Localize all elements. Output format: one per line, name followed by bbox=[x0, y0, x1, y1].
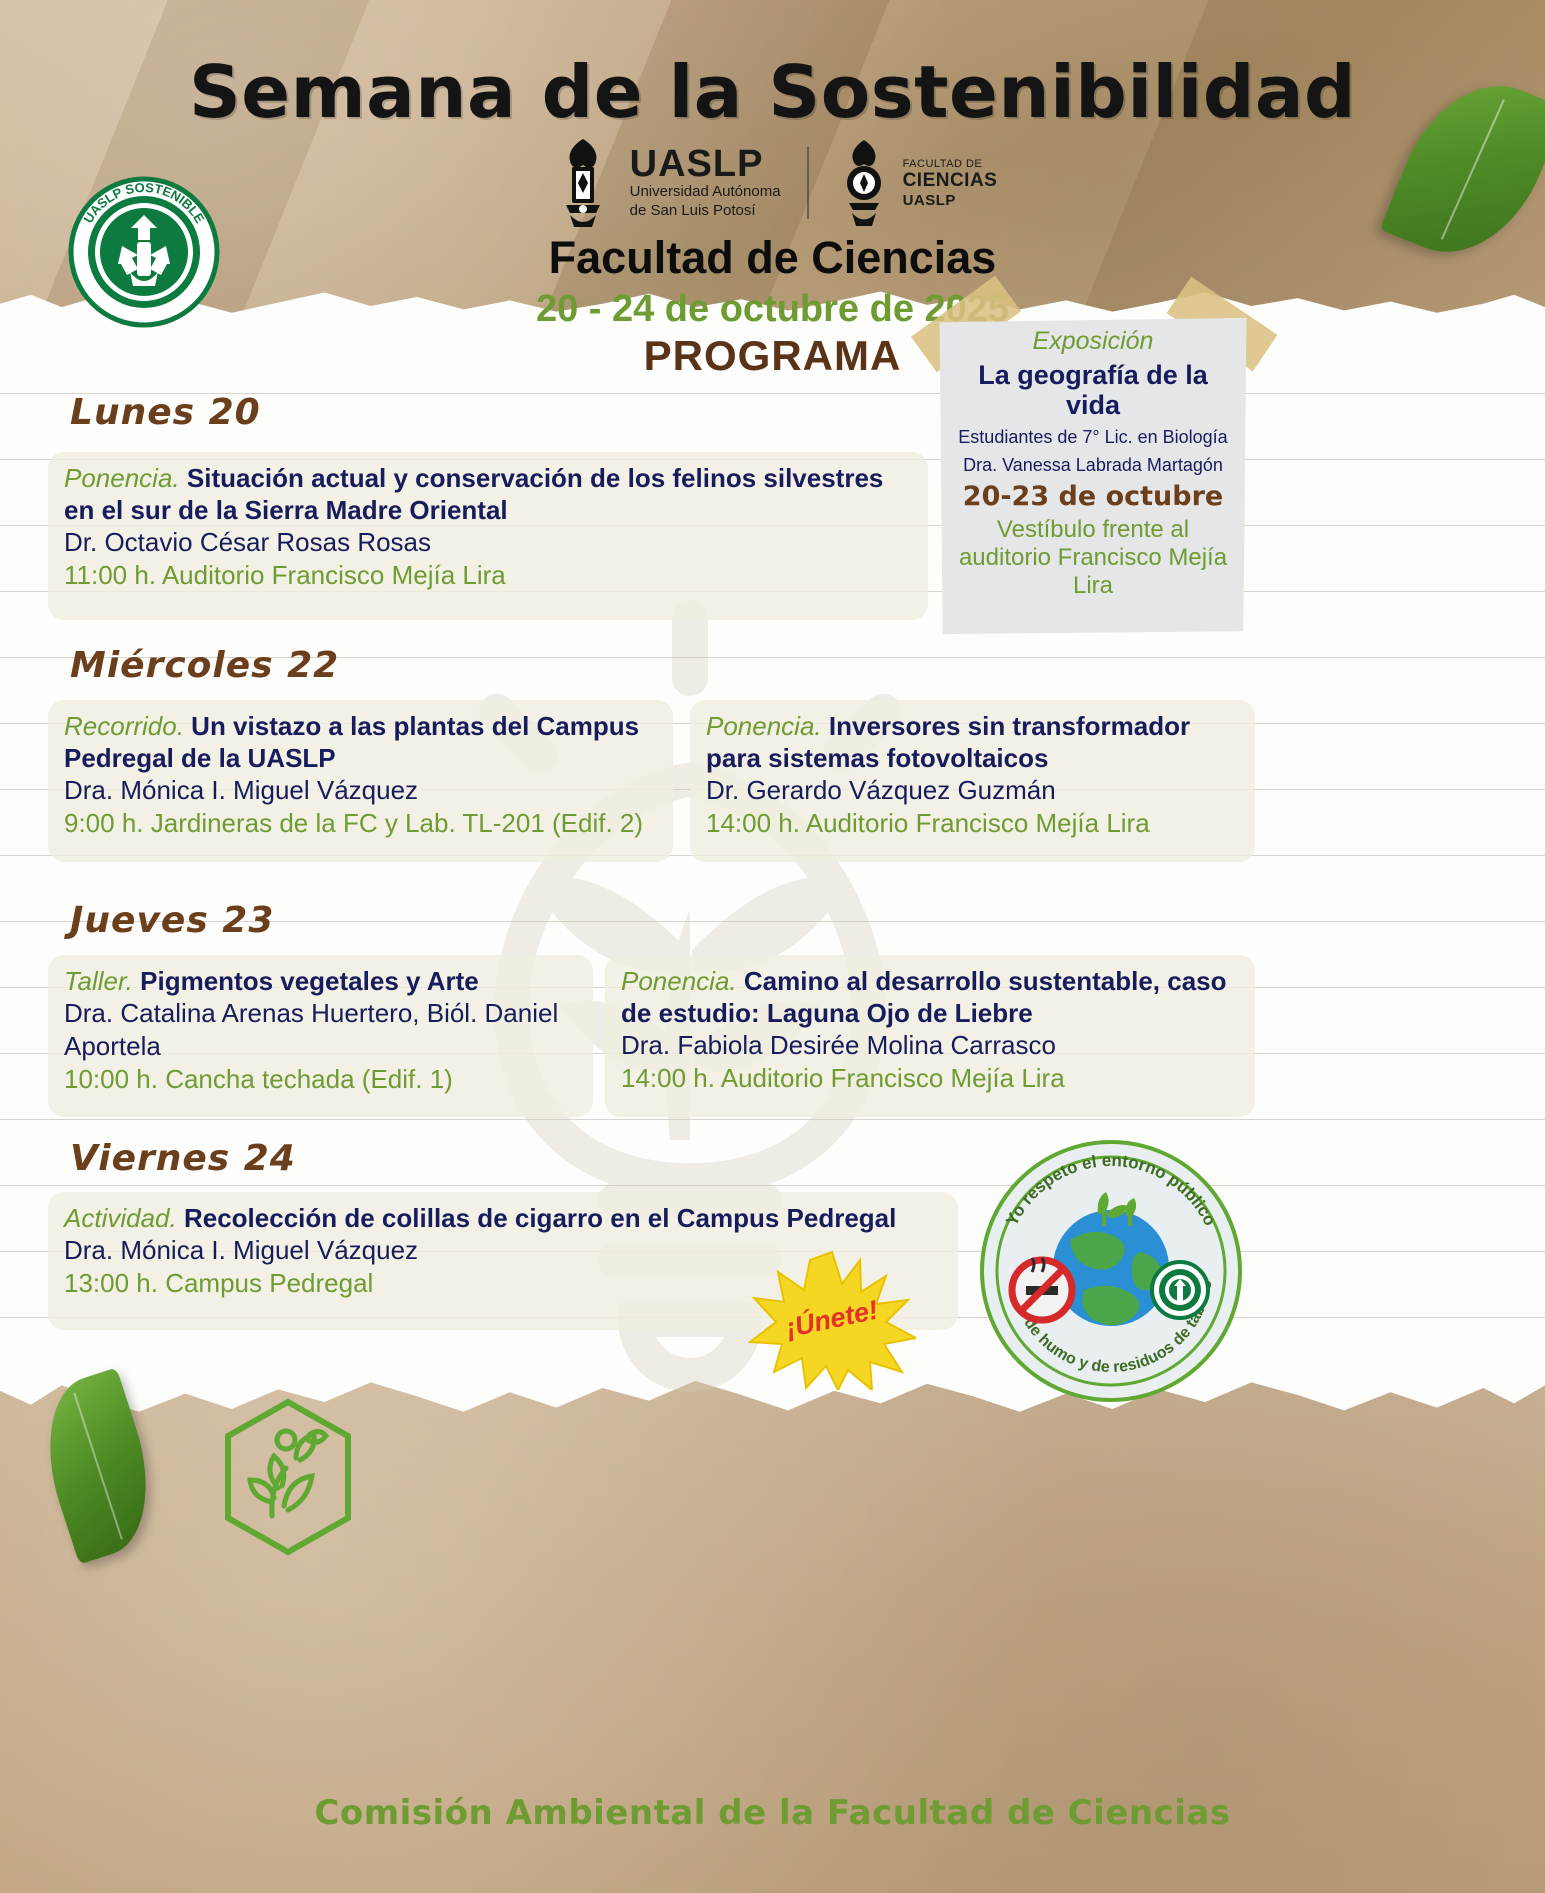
fc-line-2: CIENCIAS bbox=[903, 170, 998, 192]
exposition-place: Vestíbulo frente al auditorio Francisco … bbox=[948, 516, 1238, 601]
page-title: Semana de la Sostenibilidad bbox=[0, 50, 1545, 134]
event-speaker: Dra. Mónica I. Miguel Vázquez bbox=[64, 774, 657, 807]
exposition-dates: 20-23 de octubre bbox=[948, 481, 1238, 512]
event-card-jueves-1: Taller. Pigmentos vegetales y Arte Dra. … bbox=[48, 955, 593, 1117]
event-title-line: Recorrido. Un vistazo a las plantas del … bbox=[64, 710, 657, 774]
footer-text: Comisión Ambiental de la Facultad de Cie… bbox=[0, 1793, 1545, 1833]
day-heading-miercoles: Miércoles 22 bbox=[70, 645, 339, 686]
exposition-title: La geografía de la vida bbox=[948, 360, 1238, 420]
exposition-note: Exposición La geografía de la vida Estud… bbox=[938, 290, 1248, 648]
event-where: 9:00 h. Jardineras de la FC y Lab. TL-20… bbox=[64, 807, 657, 840]
event-card-miercoles-2: Ponencia. Inversores sin transformador p… bbox=[690, 700, 1255, 862]
day-heading-lunes: Lunes 20 bbox=[70, 392, 261, 433]
tobacco-free-seal-icon: Yo respeto el entorno público Libre de h… bbox=[980, 1140, 1242, 1402]
event-speaker: Dr. Octavio César Rosas Rosas bbox=[64, 526, 912, 559]
event-title-line: Actividad. Recolección de colillas de ci… bbox=[64, 1202, 942, 1234]
event-title-line: Ponencia. Inversores sin transformador p… bbox=[706, 710, 1239, 774]
event-title: Pigmentos vegetales y Arte bbox=[140, 966, 479, 996]
event-speaker: Dr. Gerardo Vázquez Guzmán bbox=[706, 774, 1239, 807]
event-speaker: Dra. Fabiola Desirée Molina Carrasco bbox=[621, 1029, 1239, 1062]
logo-row: UASLP Universidad Autónoma de San Luis P… bbox=[0, 135, 1545, 231]
logo-divider bbox=[807, 147, 809, 219]
unete-burst: ¡Únete! bbox=[748, 1250, 916, 1390]
event-card-miercoles-1: Recorrido. Un vistazo a las plantas del … bbox=[48, 700, 673, 862]
day-heading-jueves: Jueves 23 bbox=[70, 900, 274, 941]
event-title-line: Taller. Pigmentos vegetales y Arte bbox=[64, 965, 577, 997]
fc-line-1: FACULTAD DE bbox=[903, 158, 998, 170]
facultad-crest-icon bbox=[835, 137, 893, 229]
uaslp-crest-icon bbox=[548, 135, 618, 231]
uaslp-name-line1: Universidad Autónoma bbox=[630, 183, 781, 202]
faculty-title: Facultad de Ciencias bbox=[0, 232, 1545, 284]
event-speaker: Dra. Catalina Arenas Huertero, Biól. Dan… bbox=[64, 997, 577, 1063]
facultad-ciencias-logo: FACULTAD DE CIENCIAS UASLP bbox=[835, 137, 998, 229]
eco-hexagon-icon bbox=[222, 1398, 354, 1556]
event-kind: Actividad. bbox=[64, 1203, 177, 1233]
event-kind: Taller. bbox=[64, 966, 133, 996]
event-title-line: Ponencia. Situación actual y conservació… bbox=[64, 462, 912, 526]
event-title: Recolección de colillas de cigarro en el… bbox=[184, 1203, 896, 1233]
event-kind: Recorrido. bbox=[64, 711, 184, 741]
day-heading-viernes: Viernes 24 bbox=[70, 1138, 296, 1179]
event-kind: Ponencia. bbox=[621, 966, 737, 996]
uaslp-name-line2: de San Luis Potosí bbox=[630, 202, 781, 221]
event-where: 14:00 h. Auditorio Francisco Mejía Lira bbox=[706, 807, 1239, 840]
uaslp-abbr: UASLP bbox=[630, 145, 781, 183]
exposition-presenters-2: Dra. Vanessa Labrada Martagón bbox=[948, 454, 1238, 476]
event-where: 14:00 h. Auditorio Francisco Mejía Lira bbox=[621, 1062, 1239, 1095]
fc-line-3: UASLP bbox=[903, 192, 998, 209]
event-card-lunes-1: Ponencia. Situación actual y conservació… bbox=[48, 452, 928, 620]
exposition-presenters-1: Estudiantes de 7° Lic. en Biología bbox=[948, 426, 1238, 448]
event-where: 11:00 h. Auditorio Francisco Mejía Lira bbox=[64, 559, 912, 592]
event-dates: 20 - 24 de octubre de 2025 bbox=[0, 288, 1545, 331]
event-title: Situación actual y conservación de los f… bbox=[64, 463, 883, 525]
event-card-jueves-2: Ponencia. Camino al desarrollo sustentab… bbox=[605, 955, 1255, 1117]
event-where: 10:00 h. Cancha techada (Edif. 1) bbox=[64, 1063, 577, 1096]
event-title-line: Ponencia. Camino al desarrollo sustentab… bbox=[621, 965, 1239, 1029]
event-kind: Ponencia. bbox=[64, 463, 180, 493]
event-kind: Ponencia. bbox=[706, 711, 822, 741]
uaslp-logo: UASLP Universidad Autónoma de San Luis P… bbox=[548, 135, 781, 231]
exposition-kicker: Exposición bbox=[948, 328, 1238, 356]
programa-heading: PROGRAMA bbox=[0, 332, 1545, 380]
